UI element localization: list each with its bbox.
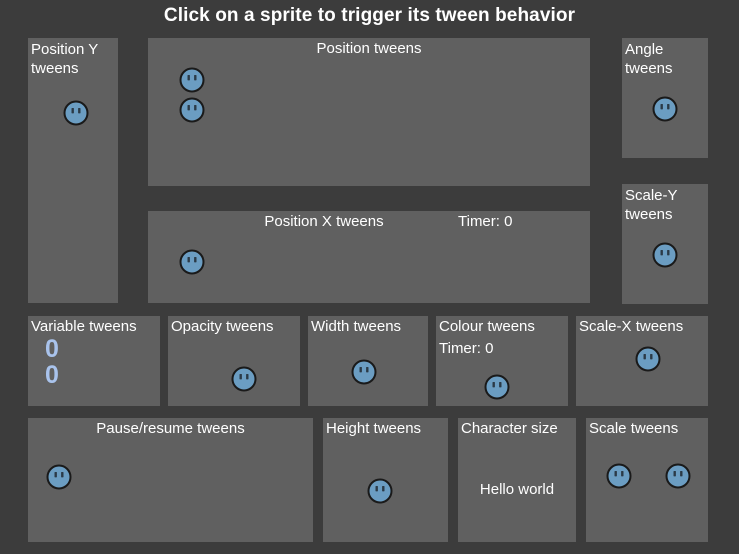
smiley-sprite-icon[interactable] — [652, 242, 678, 268]
smiley-sprite-icon[interactable] — [179, 97, 205, 123]
panel-title-width: Width tweens — [308, 318, 431, 336]
panel-title-angle: Angle tweens — [622, 40, 711, 78]
panel-variable[interactable]: Variable tweens00 — [28, 316, 160, 406]
smiley-sprite-icon[interactable] — [665, 463, 691, 489]
panel-title-colour: Colour tweens — [436, 318, 571, 336]
page-title: Click on a sprite to trigger its tween b… — [0, 4, 739, 28]
smiley-sprite-icon[interactable] — [484, 374, 510, 400]
panel-position-x[interactable]: Position X tweensTimer: 0 — [148, 211, 590, 303]
panel-title-variable: Variable tweens — [28, 318, 163, 336]
variable-value-1: 0 — [45, 336, 59, 362]
panel-title-position: Position tweens — [148, 40, 590, 58]
smiley-sprite-icon[interactable] — [179, 249, 205, 275]
timer-label-position-x: Timer: 0 — [458, 213, 512, 231]
panel-title-scale: Scale tweens — [586, 420, 711, 438]
panel-title-scale-y: Scale-Y tweens — [622, 186, 711, 224]
panel-title-pause-resume: Pause/resume tweens — [28, 420, 313, 438]
smiley-sprite-icon[interactable] — [606, 463, 632, 489]
smiley-sprite-icon[interactable] — [367, 478, 393, 504]
smiley-sprite-icon[interactable] — [179, 67, 205, 93]
panel-angle[interactable]: Angle tweens — [622, 38, 708, 158]
panel-title-opacity: Opacity tweens — [168, 318, 303, 336]
panel-position[interactable]: Position tweens — [148, 38, 590, 186]
character-size-text[interactable]: Hello world — [458, 481, 576, 499]
panel-title-height: Height tweens — [323, 420, 451, 438]
panel-character-size[interactable]: Character sizeHello world — [458, 418, 576, 542]
panel-position-y[interactable]: Position Y tweens — [28, 38, 118, 303]
smiley-sprite-icon[interactable] — [46, 464, 72, 490]
panel-title-scale-x: Scale-X tweens — [576, 318, 711, 336]
panel-width[interactable]: Width tweens — [308, 316, 428, 406]
smiley-sprite-icon[interactable] — [635, 346, 661, 372]
panel-height[interactable]: Height tweens — [323, 418, 448, 542]
panel-title-position-y: Position Y tweens — [28, 40, 121, 78]
panel-opacity[interactable]: Opacity tweens — [168, 316, 300, 406]
panel-scale-x[interactable]: Scale-X tweens — [576, 316, 708, 406]
app-stage: Click on a sprite to trigger its tween b… — [0, 0, 739, 554]
variable-value-2: 0 — [45, 362, 59, 388]
panel-pause-resume[interactable]: Pause/resume tweens — [28, 418, 313, 542]
timer-label-colour: Timer: 0 — [439, 340, 493, 358]
panel-scale[interactable]: Scale tweens — [586, 418, 708, 542]
smiley-sprite-icon[interactable] — [231, 366, 257, 392]
panel-scale-y[interactable]: Scale-Y tweens — [622, 184, 708, 304]
smiley-sprite-icon[interactable] — [351, 359, 377, 385]
panel-title-character-size: Character size — [458, 420, 579, 438]
panel-colour[interactable]: Colour tweensTimer: 0 — [436, 316, 568, 406]
smiley-sprite-icon[interactable] — [652, 96, 678, 122]
smiley-sprite-icon[interactable] — [63, 100, 89, 126]
